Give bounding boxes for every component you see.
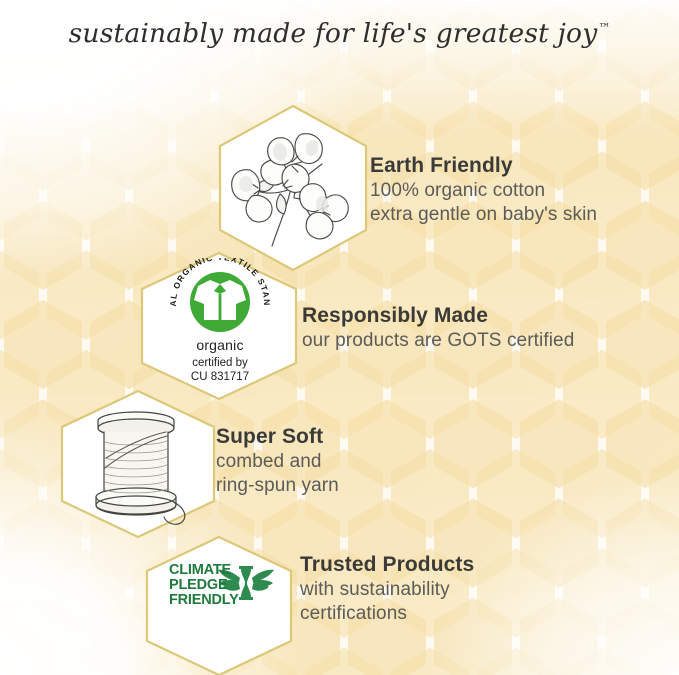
feature-text-earth-friendly: Earth Friendly 100% organic cotton extra…	[370, 153, 597, 228]
gots-organic-label: organic	[160, 337, 280, 353]
feature-line: 100% organic cotton	[370, 179, 597, 204]
gots-certifier-code: CU 831717	[160, 370, 280, 384]
headline-text: sustainably made for life's greatest joy	[69, 18, 598, 49]
cpf-line-1: CLIMATE	[169, 563, 239, 578]
trademark-symbol: ™	[598, 21, 610, 35]
thread-spool-icon	[82, 404, 198, 533]
feature-title: Earth Friendly	[370, 153, 597, 179]
feature-line: combed and	[216, 450, 339, 475]
climate-pledge-friendly-wordmark: CLIMATE PLEDGE FRIENDLY	[169, 563, 239, 609]
feature-text-trusted-products: Trusted Products with sustainability cer…	[300, 552, 474, 627]
feature-line: extra gentle on baby's skin	[370, 203, 597, 228]
feature-text-responsibly-made: Responsibly Made our products are GOTS c…	[302, 303, 574, 353]
feature-line: with sustainability	[300, 578, 474, 603]
page-headline: sustainably made for life's greatest joy…	[0, 18, 679, 49]
feature-line: ring-spun yarn	[216, 474, 339, 499]
feature-text-super-soft: Super Soft combed and ring-spun yarn	[216, 424, 339, 499]
promo-graphic: sustainably made for life's greatest joy…	[0, 0, 679, 675]
feature-title: Responsibly Made	[302, 303, 574, 329]
gots-certified-by-label: certified by	[160, 356, 280, 370]
feature-line: our products are GOTS certified	[302, 329, 574, 354]
feature-title: Super Soft	[216, 424, 339, 450]
feature-line: certifications	[300, 602, 474, 627]
cotton-plant-icon	[228, 122, 358, 259]
cpf-line-2: PLEDGE	[169, 578, 239, 593]
gots-organic-certification-icon: GLOBAL ORGANIC TEXTILE STANDARD · GOTS ·	[162, 258, 278, 347]
gots-badge-labels: organic certified by CU 831717	[160, 337, 280, 384]
cpf-line-3: FRIENDLY	[169, 593, 239, 608]
feature-title: Trusted Products	[300, 552, 474, 578]
